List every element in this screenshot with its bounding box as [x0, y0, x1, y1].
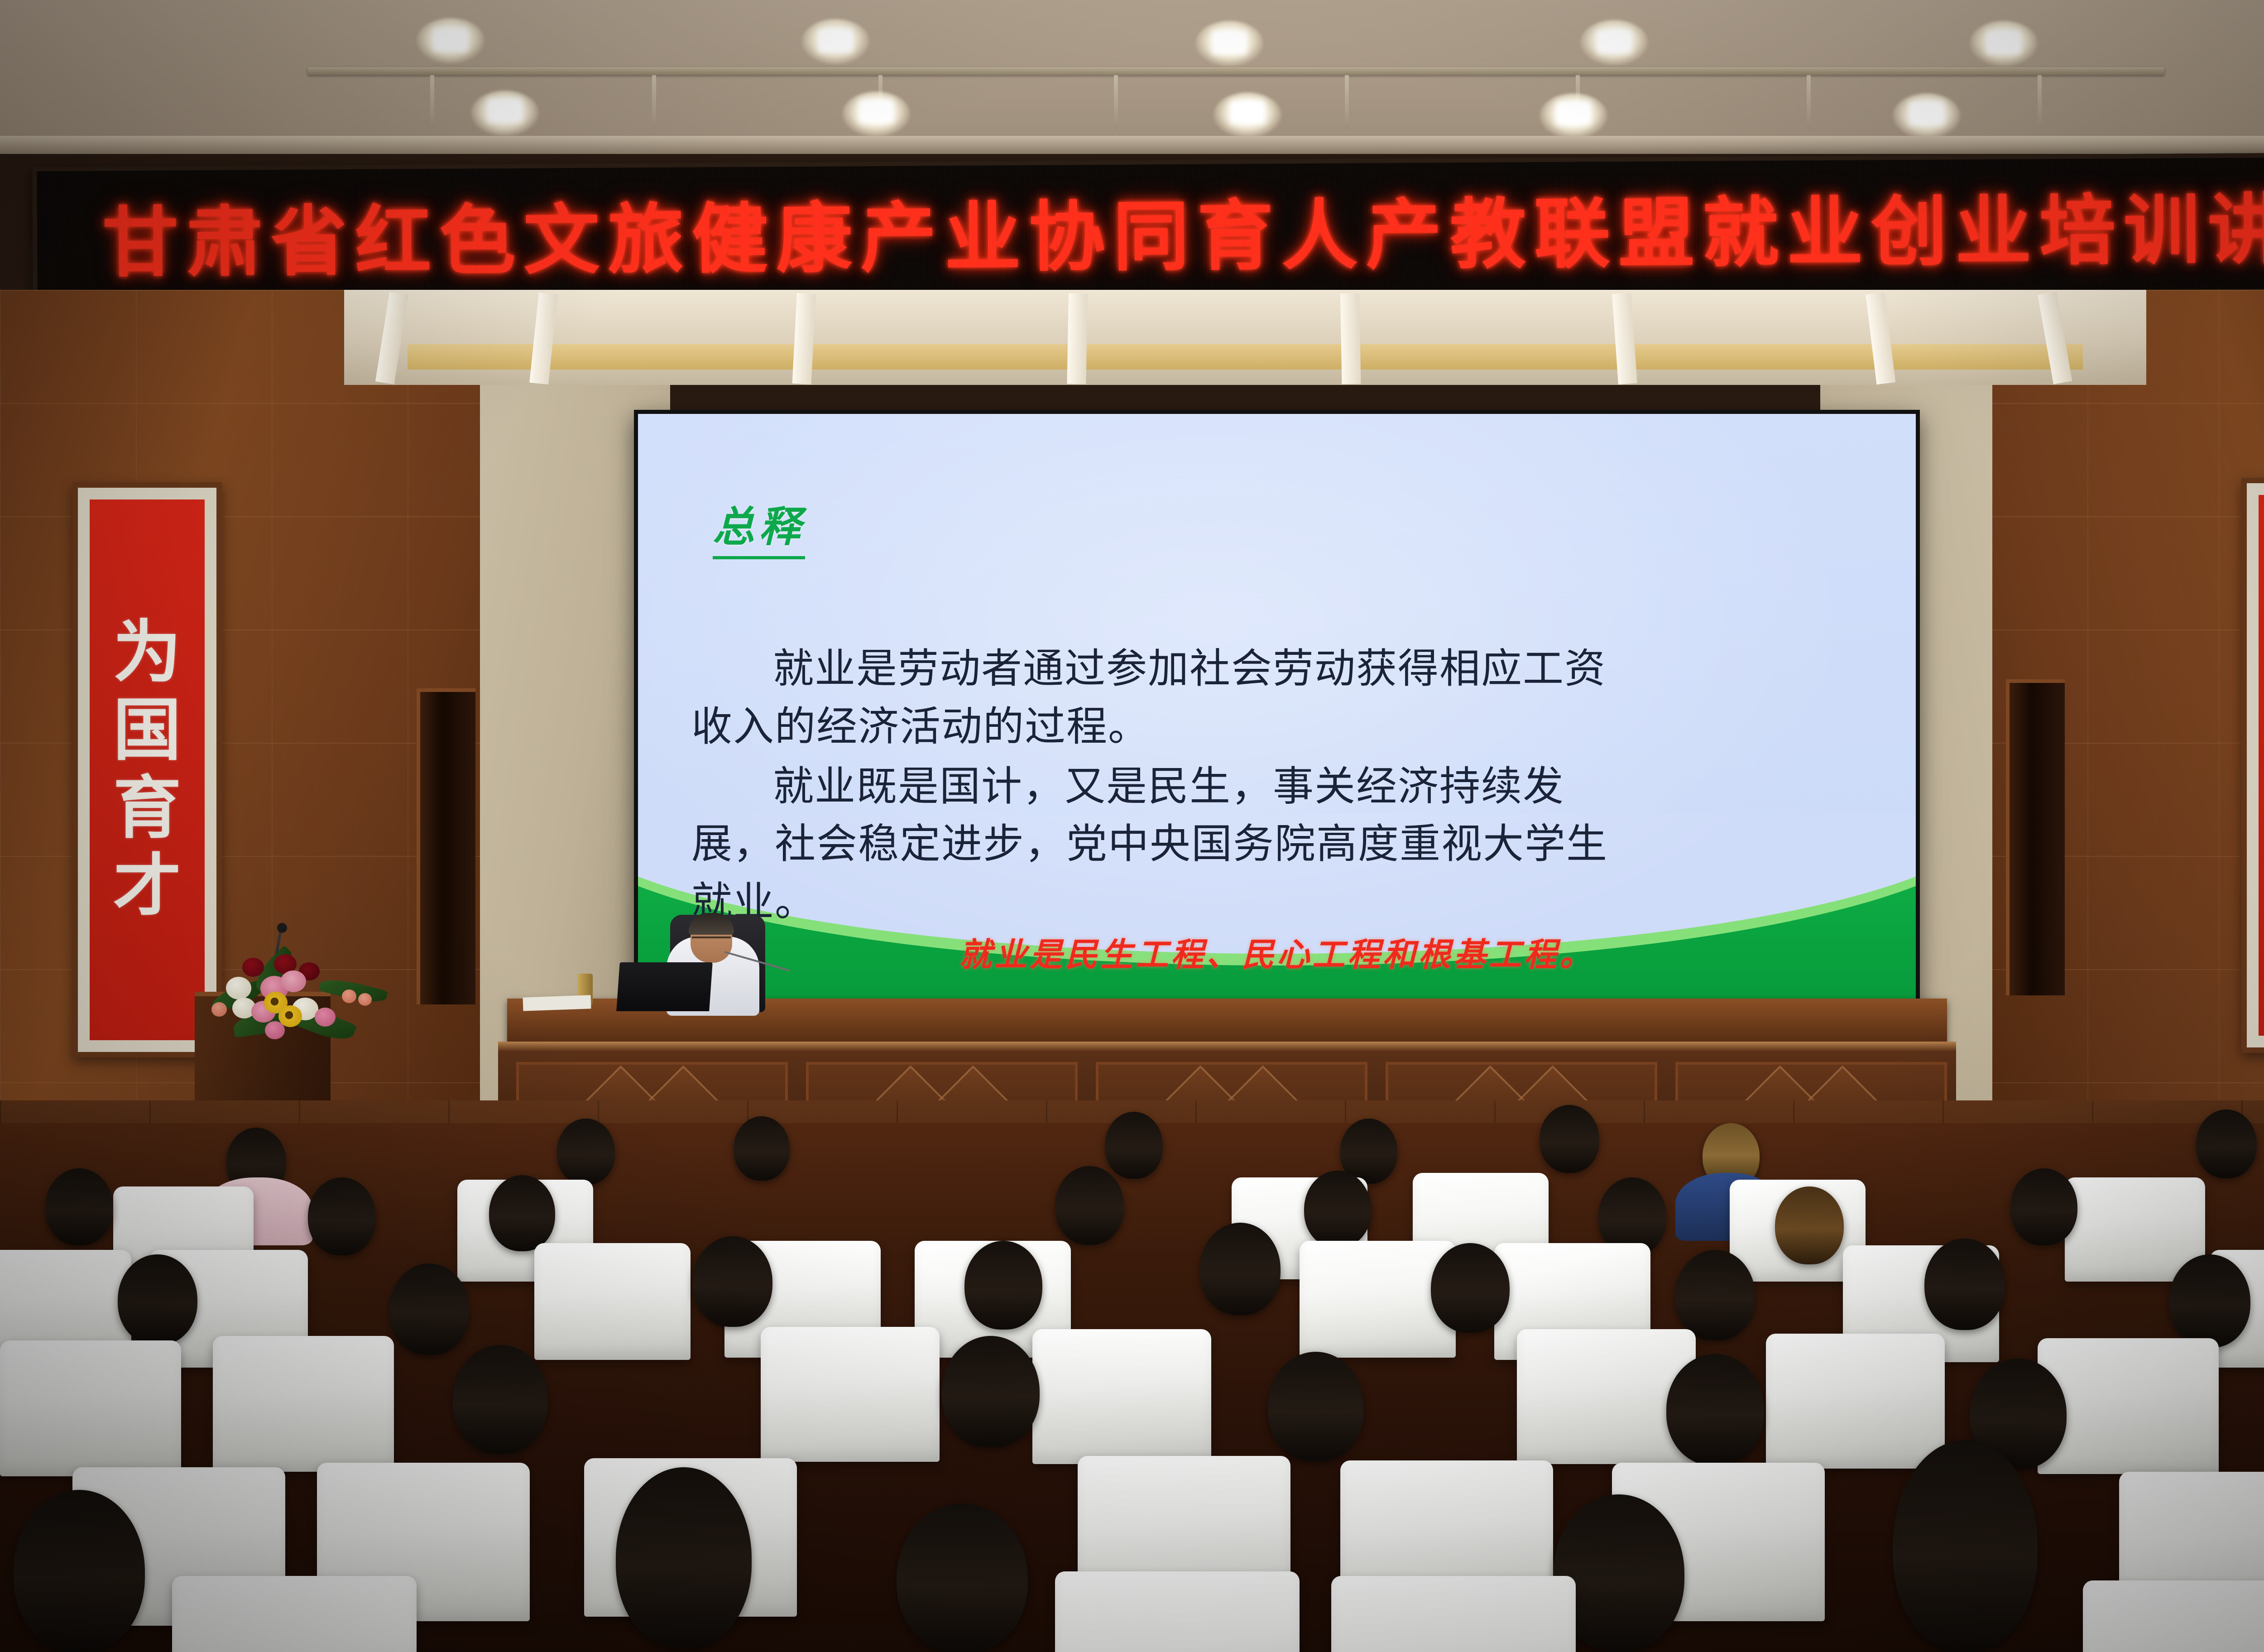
- ceiling-spotlight-icon: [1230, 101, 1265, 124]
- presidium-desk-ledge: [498, 1042, 1956, 1052]
- audience-chair: [1331, 1576, 1576, 1652]
- rail-drop-wire: [1807, 75, 1811, 130]
- rail-drop-wire: [1345, 75, 1349, 130]
- ceiling-spotlight-icon: [433, 28, 468, 52]
- audience-head: [1675, 1250, 1755, 1340]
- side-door-right[interactable]: [2006, 679, 2065, 995]
- audience-head: [734, 1116, 790, 1181]
- wall-scroll-right-panel: 为 党 育 人: [2259, 495, 2264, 1036]
- soffit-beam: [1340, 293, 1361, 384]
- ceiling-spotlight-icon: [1212, 31, 1247, 54]
- rail-drop-wire: [430, 75, 434, 130]
- audience-head: [45, 1168, 113, 1245]
- scroll-char: 为: [113, 619, 181, 687]
- ceiling-spotlight-icon: [859, 100, 894, 123]
- rail-drop-wire: [2038, 75, 2042, 130]
- ceiling-light-rail: [308, 67, 2164, 75]
- audience-head: [693, 1236, 772, 1327]
- audience-chair: [534, 1243, 691, 1360]
- audience-head: [1304, 1171, 1371, 1248]
- speaker-laptop: [616, 962, 713, 1011]
- audience-head: [489, 1175, 555, 1251]
- audience-head: [1924, 1239, 2005, 1330]
- audience-head: [389, 1263, 469, 1355]
- wall-scroll-right: 为 党 育 人: [2241, 478, 2264, 1053]
- rail-drop-wire: [652, 75, 656, 130]
- audience-head: [2196, 1109, 2257, 1178]
- ceiling-spotlight-icon: [1556, 101, 1591, 125]
- audience-head: [1200, 1223, 1281, 1315]
- ceiling-spotlight-icon: [818, 29, 853, 53]
- soffit-light-strip: [408, 344, 2083, 370]
- audience-chair: [1055, 1571, 1300, 1652]
- slide-paragraph: 就业是劳动者通过参加社会劳动获得相应工资收入的经济活动的过程。: [691, 640, 1642, 756]
- slide-title: 总释: [713, 493, 805, 559]
- wall-wood-right: [1956, 290, 2264, 1150]
- audience-head: [118, 1254, 197, 1345]
- flower-arrangement: [206, 944, 387, 1057]
- audience-head: [1540, 1105, 1599, 1173]
- audience-head: [453, 1345, 548, 1454]
- audience-head: [1268, 1352, 1364, 1461]
- desk-papers: [523, 995, 591, 1011]
- audience-head: [1666, 1354, 1764, 1465]
- ceiling-cove: [0, 136, 2264, 154]
- ceiling-spotlight-icon: [487, 99, 523, 122]
- audience-head: [1775, 1186, 1844, 1264]
- wall-scroll-left-panel: 为 国 育 才: [90, 499, 205, 1040]
- flower-peach-bud: [211, 1002, 227, 1017]
- audience-chair: [1032, 1329, 1211, 1464]
- side-door-left[interactable]: [417, 688, 475, 1004]
- ceiling-spotlight-icon: [1597, 30, 1632, 53]
- scroll-char: 国: [113, 697, 181, 765]
- audience-head: [308, 1177, 376, 1255]
- audience-head: [942, 1336, 1040, 1447]
- audience-head: [557, 1119, 615, 1185]
- lecture-hall-photo: 甘肃省红色文旅健康产业协同育人产教联盟就业创业培训讲座 为 国 育 才 为 党 …: [0, 0, 2264, 1652]
- audience-head: [14, 1490, 145, 1652]
- flower-pink-rose: [315, 1008, 336, 1027]
- projection-screen: 总释 就业是劳动者通过参加社会劳动获得相应工资收入的经济活动的过程。 就业既是国…: [634, 410, 1920, 1012]
- speaker-glasses-icon: [692, 936, 731, 945]
- flower-pink-lily: [281, 970, 306, 992]
- slide-footer-text: 就业是民生工程、民心工程和根基工程。: [638, 928, 1916, 975]
- presentation-slide: 总释 就业是劳动者通过参加社会劳动获得相应工资收入的经济活动的过程。 就业既是国…: [638, 414, 1916, 1008]
- audience-head: [2010, 1168, 2077, 1245]
- audience-head: [964, 1241, 1042, 1330]
- audience-chair: [172, 1576, 417, 1652]
- audience-head: [897, 1503, 1028, 1652]
- audience-chair: [213, 1336, 394, 1472]
- audience-head: [2169, 1254, 2250, 1348]
- audience-chair: [2083, 1580, 2264, 1652]
- audience-chair: [1766, 1334, 1945, 1469]
- ceiling-spotlight-icon: [1909, 101, 1944, 125]
- flower-pink-rose: [265, 1021, 285, 1039]
- led-banner-text: 甘肃省红色文旅健康产业协同育人产教联盟就业创业培训讲座: [37, 167, 2264, 292]
- flower-white: [226, 977, 251, 999]
- soffit-beam: [1067, 293, 1088, 384]
- flower-peach-bud: [342, 989, 356, 1003]
- audience-chair: [761, 1327, 940, 1462]
- rail-drop-wire: [1114, 75, 1118, 130]
- flower-red: [242, 958, 264, 977]
- slide-paragraph: 就业既是国计，又是民生，事关经济持续发展，社会稳定进步，党中央国务院高度重视大学…: [691, 758, 1642, 932]
- scroll-char: 育: [113, 775, 181, 843]
- lectern-microphone-icon: [277, 923, 287, 933]
- audience-head: [616, 1467, 752, 1648]
- ceiling-spotlight-icon: [1986, 31, 2021, 54]
- led-banner: 甘肃省红色文旅健康产业协同育人产教联盟就业创业培训讲座: [32, 152, 2264, 307]
- audience-head: [1055, 1166, 1124, 1245]
- scroll-char: 才: [113, 853, 181, 921]
- slide-body: 就业是劳动者通过参加社会劳动获得相应工资收入的经济活动的过程。 就业既是国计，又…: [691, 640, 1642, 933]
- flower-peach-bud: [358, 993, 372, 1006]
- audience-head: [1105, 1112, 1163, 1179]
- audience-chair: [0, 1340, 181, 1476]
- audience-head: [1431, 1243, 1510, 1333]
- wall-scroll-left: 为 国 育 才: [72, 482, 222, 1057]
- audience-head: [1893, 1440, 2038, 1652]
